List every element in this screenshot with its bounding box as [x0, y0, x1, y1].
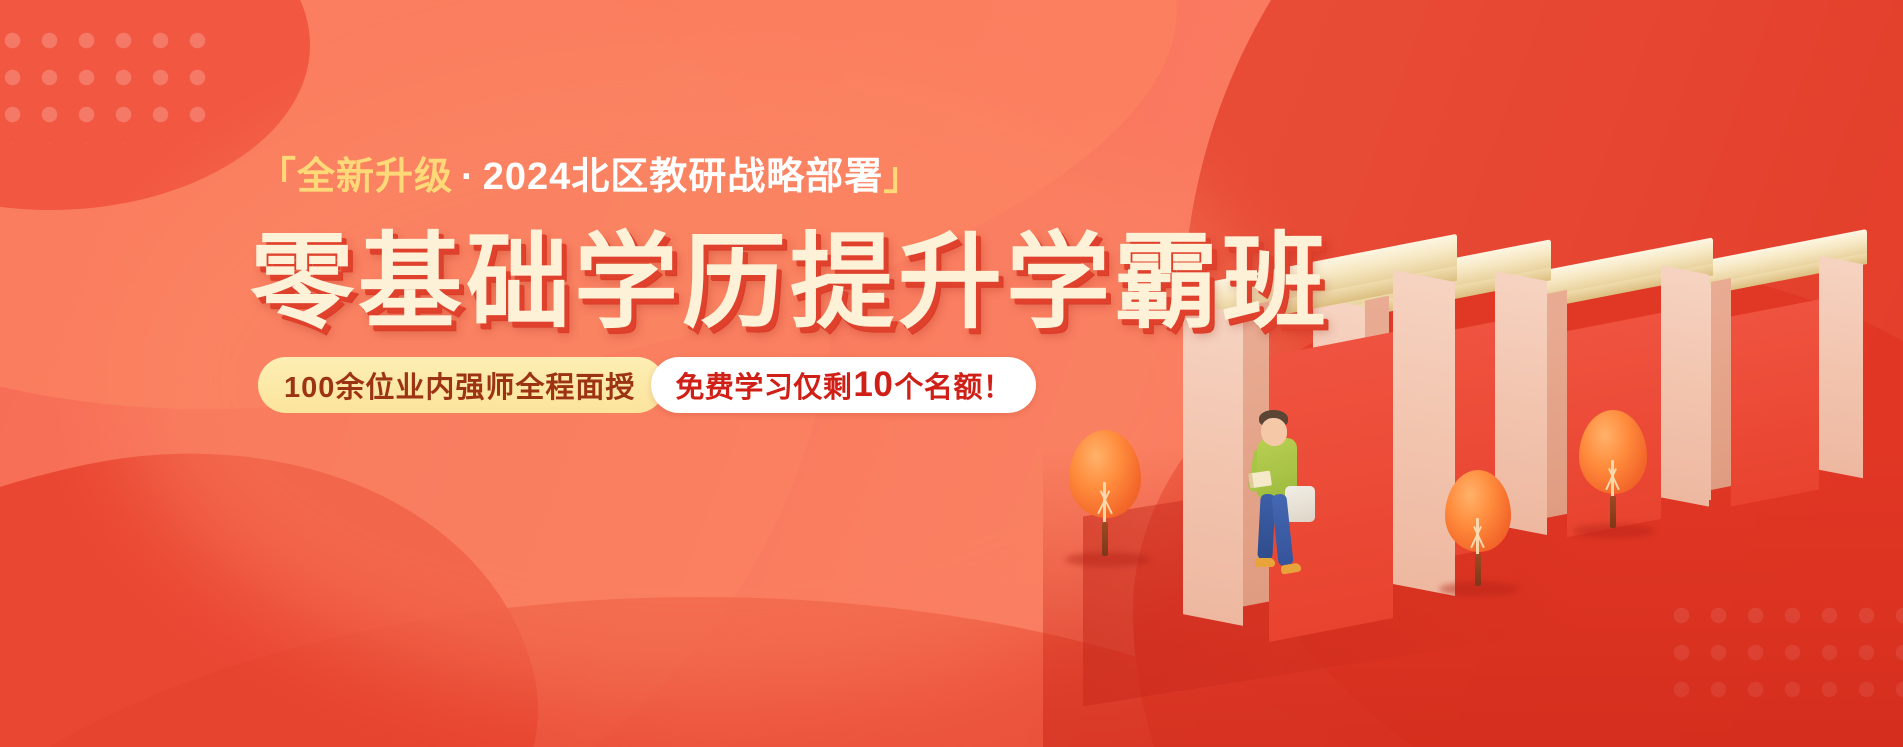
badge-row: 100余位业内强师全程面授 免费学习仅剩10个名额！: [258, 357, 1036, 413]
promo-banner: 「全新升级·2024北区教研战略部署」 零基础学历提升学霸班 100余位业内强师…: [0, 0, 1903, 747]
banner-title: 零基础学历提升学霸班: [250, 225, 1330, 341]
illustration: [1043, 0, 1903, 747]
badge-seats-remaining[interactable]: 免费学习仅剩10个名额！: [651, 357, 1036, 413]
subtitle-bracket-open: 「: [258, 156, 297, 198]
badge-seats-prefix: 免费学习仅剩: [675, 364, 852, 406]
badge-seats-count: 10: [852, 365, 894, 405]
banner-subtitle: 「全新升级·2024北区教研战略部署」: [258, 158, 922, 196]
subtitle-rest: 2024北区教研战略部署: [483, 156, 884, 198]
subtitle-highlight: 全新升级: [297, 156, 453, 198]
badge-seats-suffix: 个名额！: [894, 364, 1012, 406]
tree-right: [1573, 410, 1655, 542]
subtitle-bracket-close: 」: [883, 156, 922, 198]
student-figure: [1241, 412, 1351, 592]
tree-middle: [1439, 470, 1519, 600]
subtitle-separator: ·: [453, 156, 483, 198]
text-content: 「全新升级·2024北区教研战略部署」 零基础学历提升学霸班 100余位业内强师…: [0, 0, 1100, 747]
badge-instructors: 100余位业内强师全程面授: [258, 357, 665, 413]
